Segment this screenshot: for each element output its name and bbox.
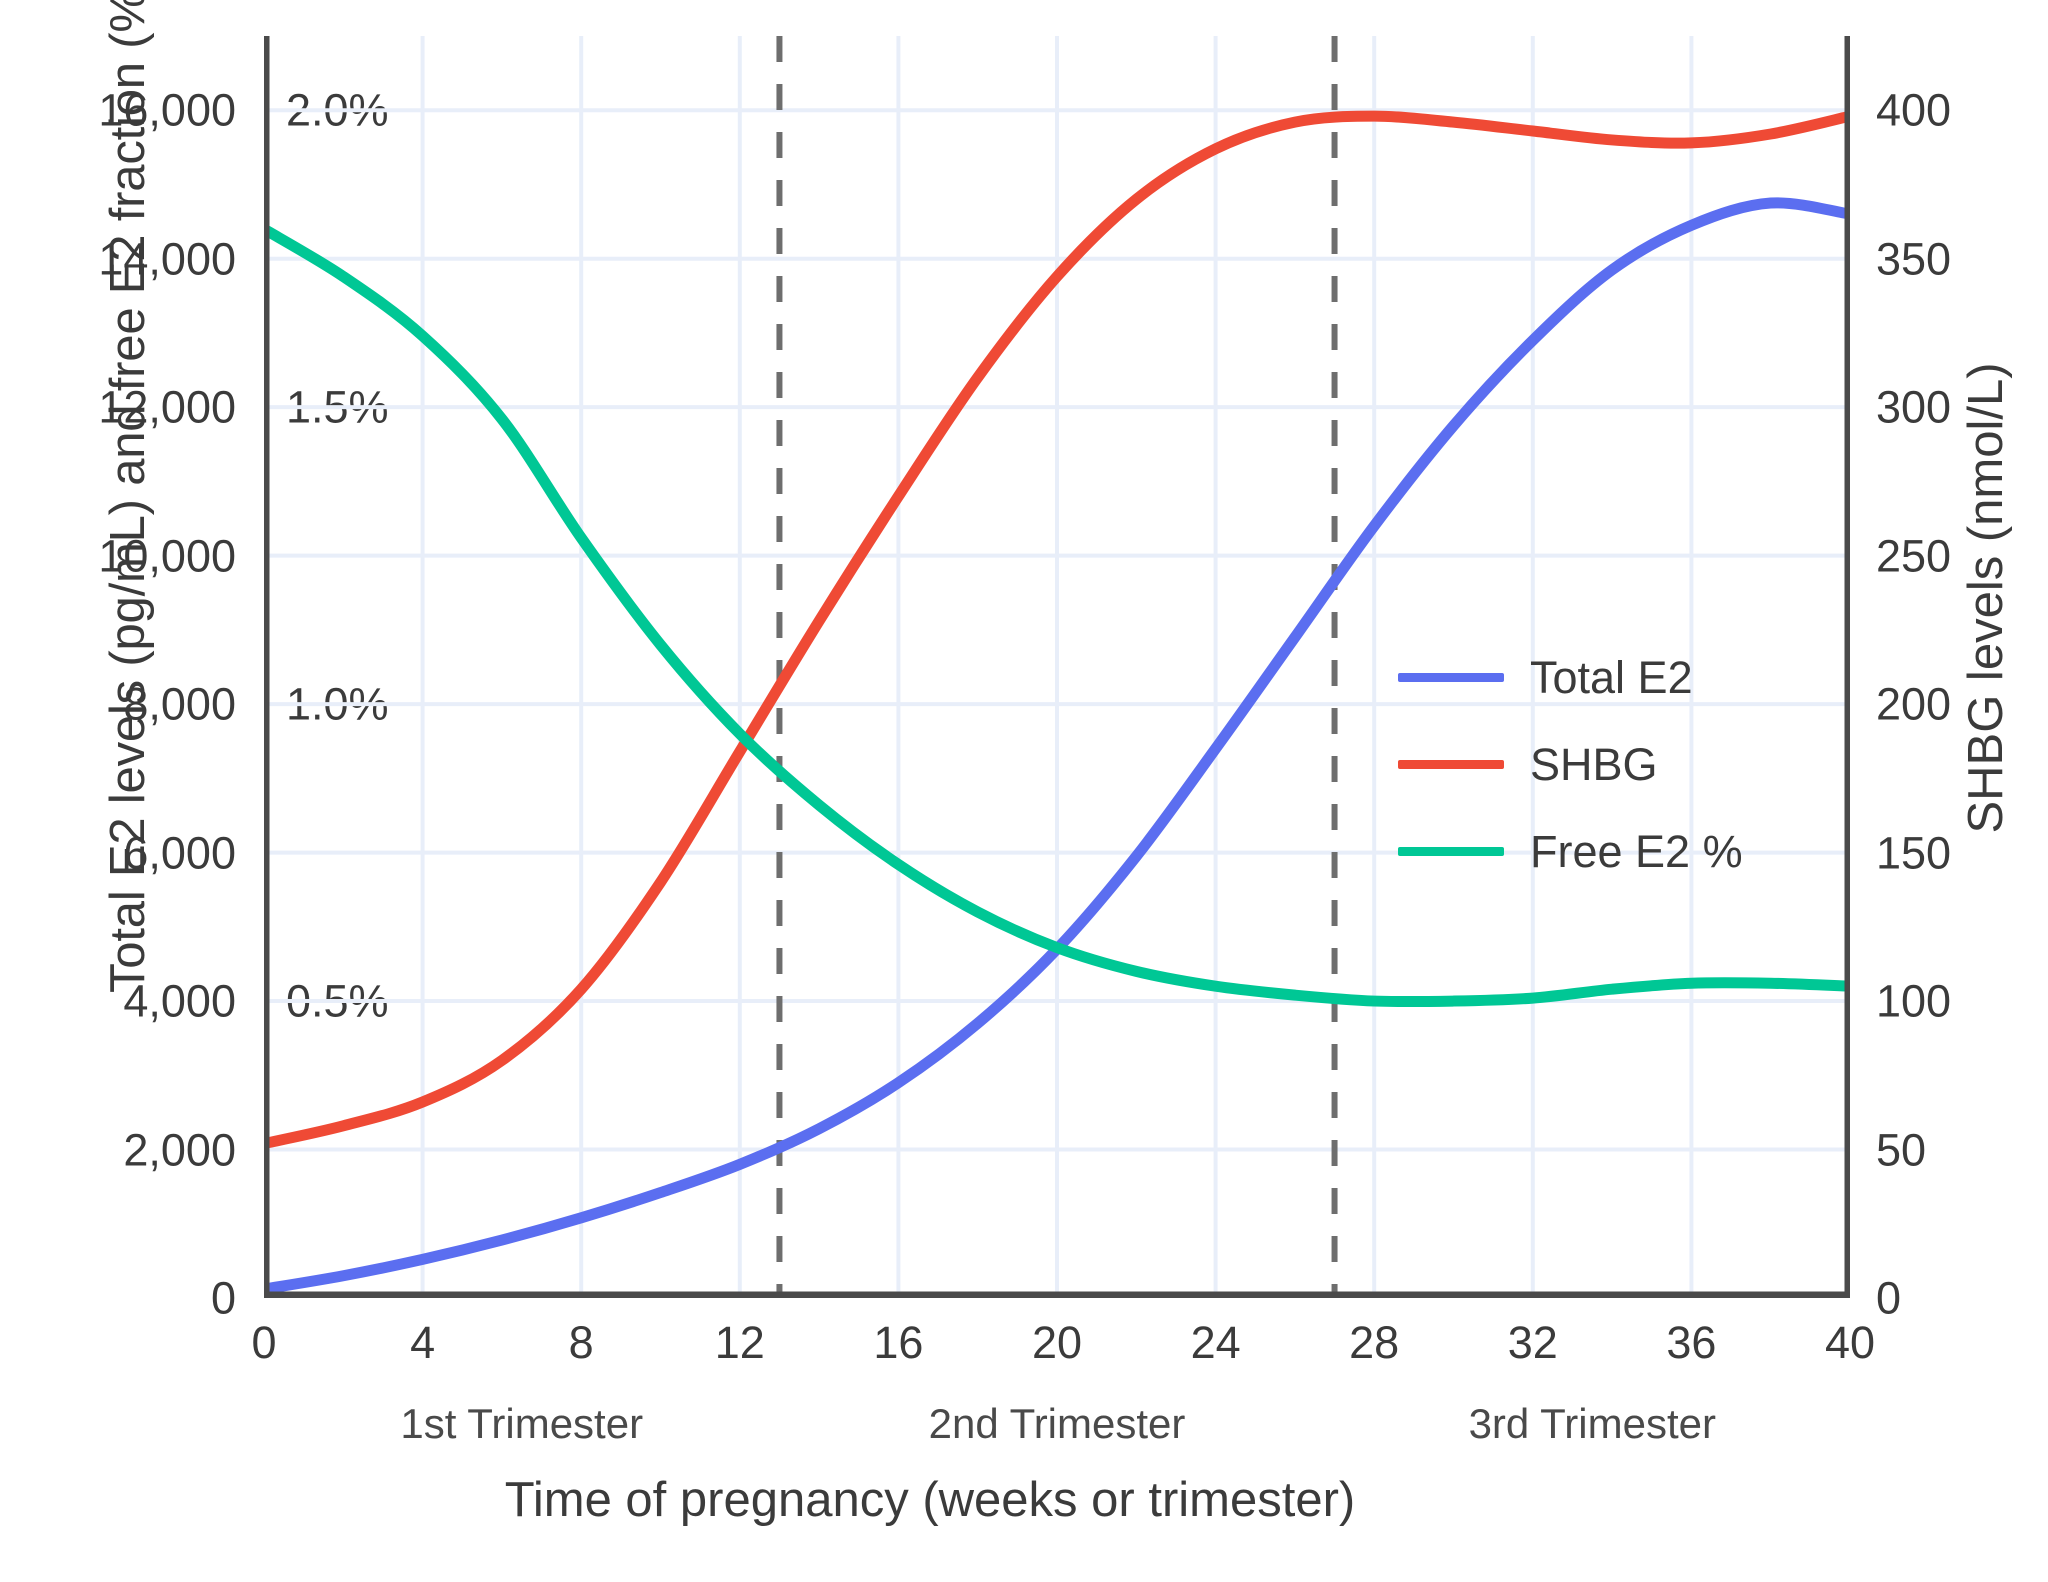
y-axis-left-tick-label: 4,000	[0, 979, 236, 1024]
y-axis-right-tick-label: 400	[1876, 88, 1951, 133]
x-axis-title: Time of pregnancy (weeks or trimester)	[0, 1472, 1860, 1528]
legend-item-shbg[interactable]: SHBG	[1398, 742, 1743, 787]
legend-item-total-e2[interactable]: Total E2	[1398, 655, 1743, 700]
legend-item-free-e2[interactable]: Free E2 %	[1398, 829, 1743, 874]
x-axis-tick-label: 20	[1032, 1320, 1082, 1365]
legend-item-label: Total E2	[1530, 655, 1693, 700]
x-axis-tick-label: 12	[715, 1320, 765, 1365]
trimester-label-3: 3rd Trimester	[1469, 1400, 1716, 1448]
x-axis-tick-label: 32	[1508, 1320, 1558, 1365]
trimester-label-1: 1st Trimester	[400, 1400, 643, 1448]
x-axis-tick-label: 8	[569, 1320, 594, 1365]
legend: Total E2SHBGFree E2 %	[1398, 655, 1743, 874]
x-axis-tick-label: 4	[410, 1320, 435, 1365]
y-axis-left-tick-label: 0	[0, 1276, 236, 1321]
y-axis-left-tick-label: 12,000	[0, 385, 236, 430]
x-axis-tick-label: 0	[251, 1320, 276, 1365]
x-axis-tick-label: 24	[1191, 1320, 1241, 1365]
legend-color-swatch	[1398, 760, 1504, 769]
y-axis-right-tick-label: 150	[1876, 830, 1951, 875]
x-axis-tick-label: 16	[873, 1320, 923, 1365]
y-axis-left-tick-label: 2,000	[0, 1127, 236, 1172]
y-axis-right-tick-label: 50	[1876, 1127, 1926, 1172]
x-axis-tick-label: 40	[1825, 1320, 1875, 1365]
y-axis-right-tick-label: 0	[1876, 1276, 1901, 1321]
y-axis-right-tick-label: 350	[1876, 236, 1951, 281]
legend-item-label: Free E2 %	[1530, 829, 1743, 874]
y-axis-right-tick-label: 250	[1876, 533, 1951, 578]
trimester-label-2: 2nd Trimester	[929, 1400, 1186, 1448]
legend-color-swatch	[1398, 847, 1504, 856]
y-axis-left-tick-label: 8,000	[0, 682, 236, 727]
y-axis-left-tick-label: 16,000	[0, 88, 236, 133]
y-axis-right-tick-label: 200	[1876, 682, 1951, 727]
y-axis-left-tick-label: 14,000	[0, 236, 236, 281]
y-axis-right-tick-label: 300	[1876, 385, 1951, 430]
chart-figure: Total E2 levels (pg/mL) and free E2 frac…	[0, 0, 2048, 1582]
x-axis-tick-label: 36	[1666, 1320, 1716, 1365]
y-axis-left-tick-label: 10,000	[0, 533, 236, 578]
y-axis-left-tick-label: 6,000	[0, 830, 236, 875]
y-axis-right-title: SHBG levels (nmol/L)	[1958, 248, 2014, 948]
y-axis-right-tick-label: 100	[1876, 979, 1951, 1024]
legend-color-swatch	[1398, 673, 1504, 682]
x-axis-tick-label: 28	[1349, 1320, 1399, 1365]
legend-item-label: SHBG	[1530, 742, 1658, 787]
